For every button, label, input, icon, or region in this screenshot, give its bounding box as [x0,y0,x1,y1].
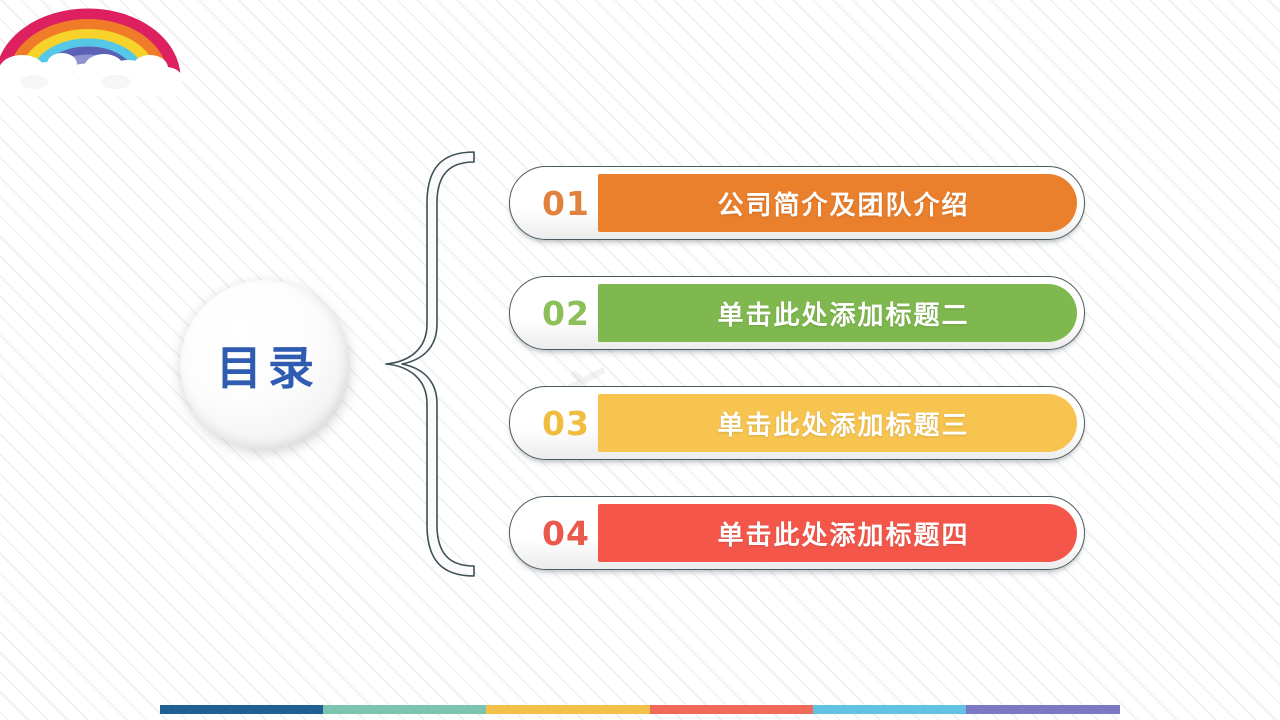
contents-list: 01 公司简介及团队介绍 02 单击此处添加标题二 03 单击此处添加标题三 0… [509,166,1085,570]
cloud-cluster [0,53,182,96]
row-pill[interactable]: 单击此处添加标题四 [598,504,1077,562]
bottom-bar-segment [966,705,1120,714]
curly-brace [362,148,482,580]
list-item[interactable]: 03 单击此处添加标题三 [509,386,1085,460]
row-title: 公司简介及团队介绍 [717,185,969,222]
row-number: 03 [531,386,601,460]
row-number: 04 [531,496,601,570]
catalog-label: 目录 [210,332,320,398]
list-item[interactable]: 01 公司简介及团队介绍 [509,166,1085,240]
bottom-bar-segment [160,705,323,714]
bottom-bar-segment [650,705,813,714]
row-number: 02 [531,276,601,350]
rainbow-cloud-logo [0,0,182,96]
row-pill[interactable]: 单击此处添加标题二 [598,284,1077,342]
catalog-circle: 目录 [180,280,350,450]
bottom-bar-segment [813,705,967,714]
bottom-bar-segment [486,705,649,714]
row-pill[interactable]: 公司简介及团队介绍 [598,174,1077,232]
list-item[interactable]: 04 单击此处添加标题四 [509,496,1085,570]
row-title: 单击此处添加标题三 [717,405,969,442]
bottom-bar-segment [323,705,486,714]
row-title: 单击此处添加标题四 [717,515,969,552]
row-number: 01 [531,166,601,240]
row-title: 单击此处添加标题二 [717,295,969,332]
list-item[interactable]: 02 单击此处添加标题二 [509,276,1085,350]
row-pill[interactable]: 单击此处添加标题三 [598,394,1077,452]
slide-canvas: 广 目录 01 公司简介及团队介绍 02 单击此处添加标题二 03 [0,0,1280,720]
bottom-color-bar [160,705,1120,714]
